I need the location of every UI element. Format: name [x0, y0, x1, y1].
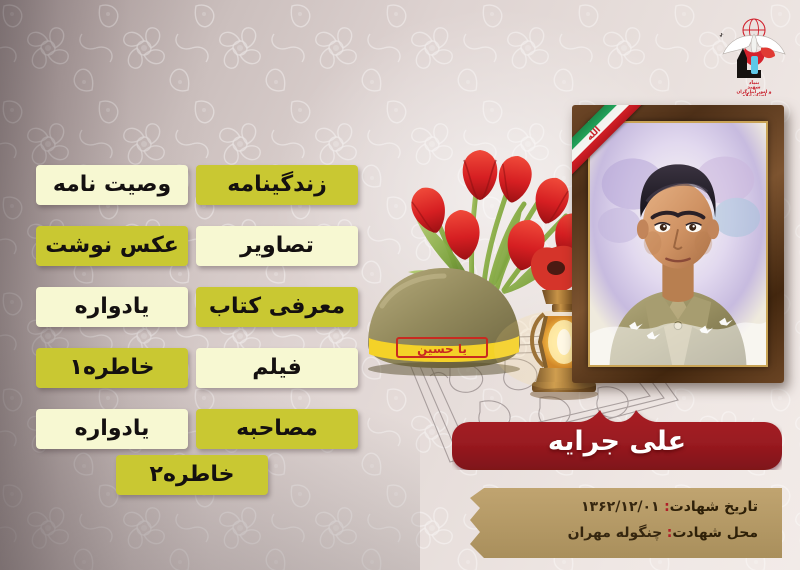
svg-text:بنیاد شهید و امور ایثارگران ان: بنیاد شهید و امور ایثارگران انقلاب اسلام…	[715, 4, 725, 39]
martyrdom-info-panel: تاریخ شهادت: ۱۳۶۲/۱۲/۰۱ محل شهادت: چنگول…	[470, 488, 782, 558]
menu-button-10[interactable]: یادواره	[36, 409, 188, 449]
martyrdom-date-label: تاریخ شهادت	[670, 499, 758, 515]
menu-button-11[interactable]: خاطره۲	[116, 455, 268, 495]
martyr-name-banner: علی جرایه	[452, 408, 782, 470]
svg-text:یا حسین: یا حسین	[417, 342, 467, 356]
menu-button-group: زندگینامهوصیت نامهتصاویرعکس نوشتمعرفی کت…	[0, 0, 380, 570]
menu-button-9[interactable]: مصاحبه	[196, 409, 358, 449]
menu-button-label: خاطره۱	[70, 355, 155, 380]
foundation-logo-icon: بنیاد شهید و امور ایثارگران انقلاب اسلام…	[715, 4, 793, 96]
martyrdom-place-value: چنگوله مهران	[568, 525, 663, 541]
menu-button-5[interactable]: معرفی کتاب	[196, 287, 358, 327]
martyrdom-date-value: ۱۳۶۲/۱۲/۰۱	[581, 499, 660, 515]
svg-text:استان ایلام: استان ایلام	[742, 94, 767, 96]
martyr-name: علی جرایه	[452, 426, 782, 457]
menu-button-2[interactable]: وصیت نامه	[36, 165, 188, 205]
menu-button-8[interactable]: خاطره۱	[36, 348, 188, 388]
menu-button-label: عکس نوشت	[45, 233, 179, 258]
menu-button-3[interactable]: تصاویر	[196, 226, 358, 266]
menu-button-label: خاطره۲	[150, 462, 235, 487]
martyr-portrait	[588, 121, 768, 367]
martyr-memorial-poster: جبهه ای دفاع مقدسشهیدویژه نامه نوجوان تر…	[0, 0, 800, 570]
menu-button-label: یادواره	[75, 416, 150, 441]
menu-button-label: معرفی کتاب	[209, 294, 345, 319]
menu-button-4[interactable]: عکس نوشت	[36, 226, 188, 266]
menu-button-label: یادواره	[75, 294, 150, 319]
menu-button-6[interactable]: یادواره	[36, 287, 188, 327]
martyr-portrait-frame: الله	[572, 105, 784, 383]
flag-emblem-icon: الله	[585, 125, 603, 143]
menu-button-7[interactable]: فیلم	[196, 348, 358, 388]
menu-button-label: وصیت نامه	[53, 172, 171, 197]
menu-button-label: تصاویر	[240, 233, 314, 258]
menu-button-label: فیلم	[252, 355, 302, 380]
martyrdom-date-row: تاریخ شهادت: ۱۳۶۲/۱۲/۰۱	[496, 494, 758, 520]
martyrdom-place-row: محل شهادت: چنگوله مهران	[496, 520, 758, 546]
menu-button-1[interactable]: زندگینامه	[196, 165, 358, 205]
martyrdom-place-label: محل شهادت	[672, 525, 758, 541]
menu-button-label: زندگینامه	[227, 172, 327, 197]
menu-button-label: مصاحبه	[236, 416, 318, 441]
